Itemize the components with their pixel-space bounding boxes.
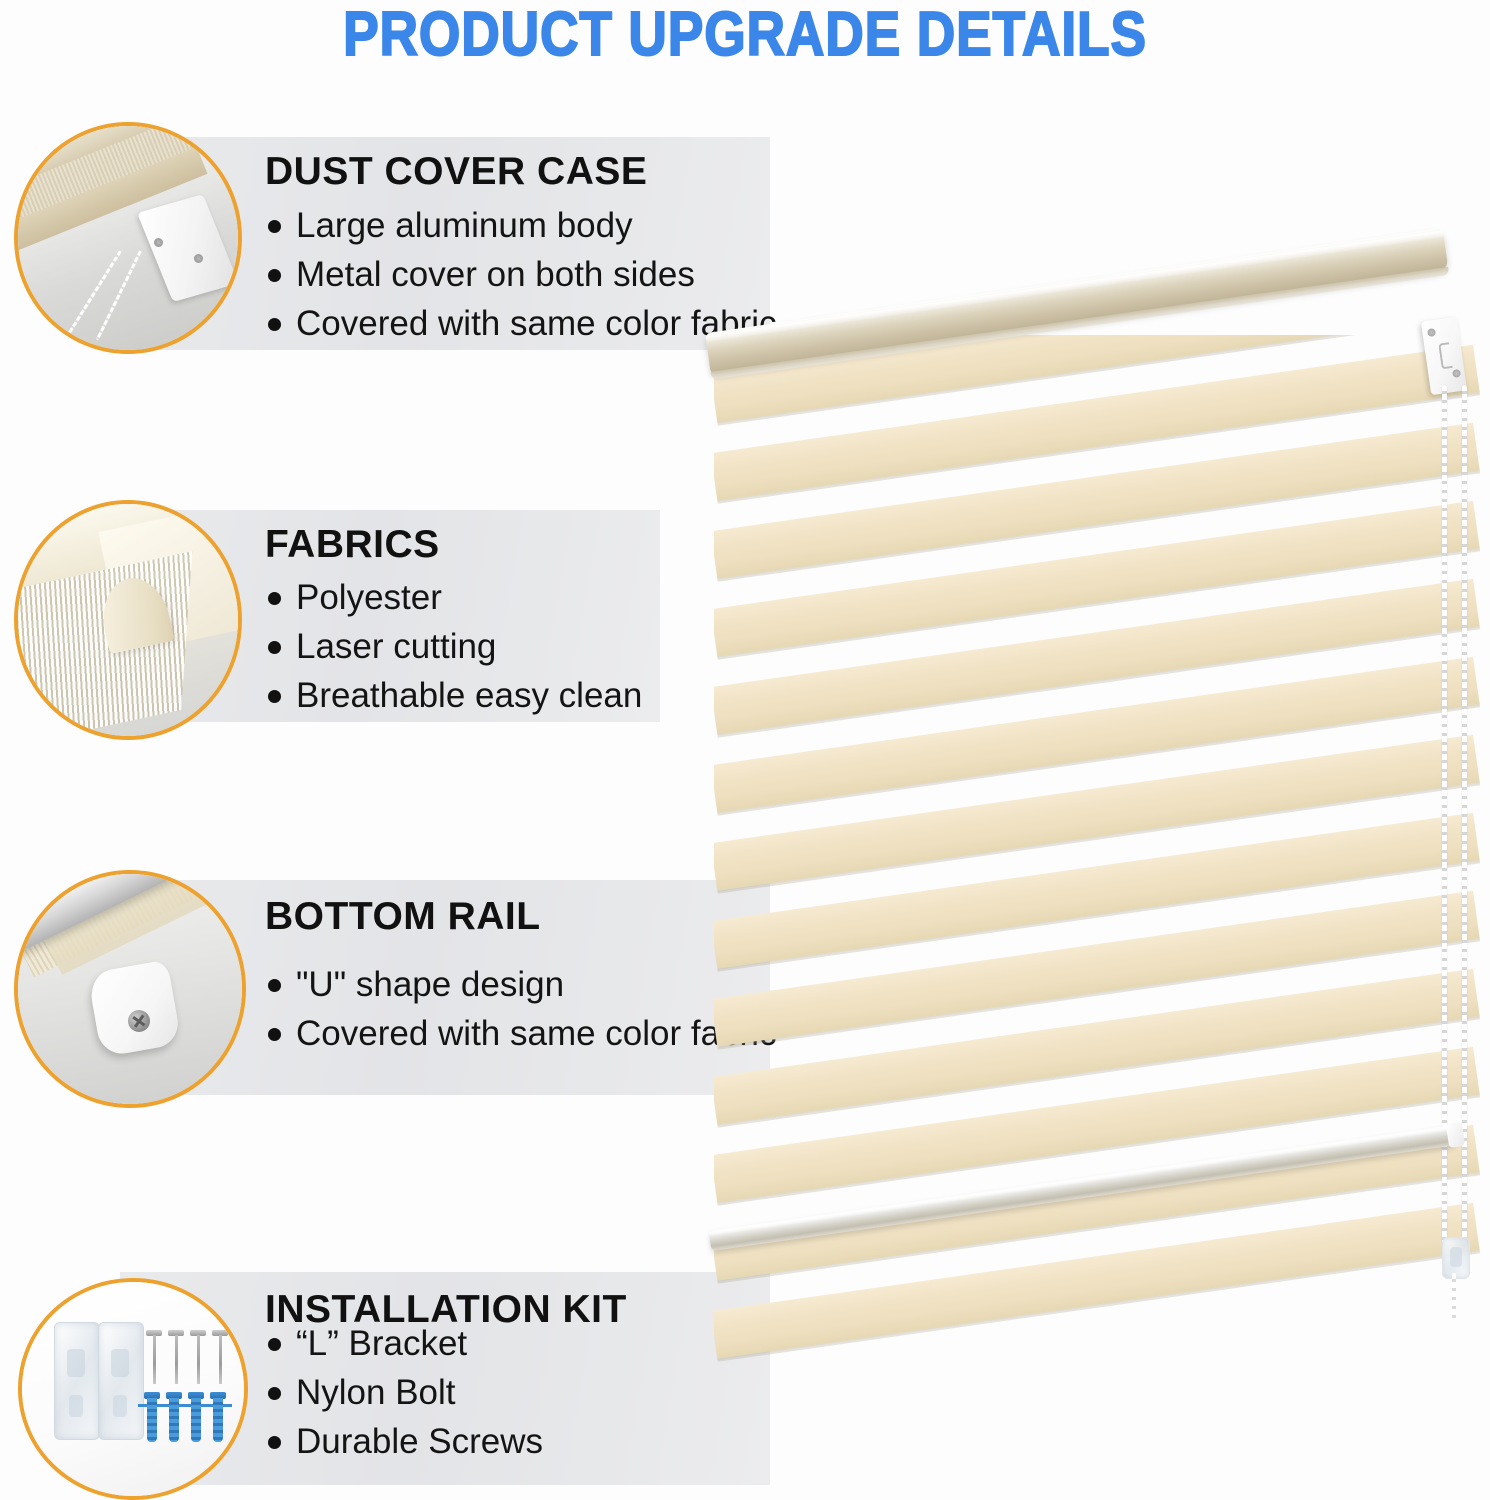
nylon-anchor-icon [210, 1392, 226, 1442]
bead-chain-tail[interactable] [1452, 1273, 1456, 1319]
bullet-dot-icon [268, 318, 281, 331]
feature-bullet-text: Large aluminum body [296, 206, 633, 246]
l-bracket-icon [98, 1322, 144, 1440]
feature-bullet-text: Durable Screws [296, 1422, 543, 1462]
blind-fabric [714, 335, 1484, 1365]
screw-icon [1452, 369, 1461, 378]
screw-icon [194, 1330, 202, 1384]
bead-chain-left[interactable] [1442, 385, 1447, 1243]
feature-bullet: Large aluminum body [268, 206, 633, 246]
bullet-dot-icon [268, 1436, 281, 1449]
chain-safety-connector[interactable] [1442, 1237, 1470, 1279]
feature-bullet: Laser cutting [268, 627, 496, 667]
feature-photo-dust-cover-case [14, 122, 242, 354]
bullet-dot-icon [268, 1387, 281, 1400]
feature-bullet-text: Metal cover on both sides [296, 255, 695, 295]
bullet-dot-icon [268, 690, 281, 703]
feature-bullet: Polyester [268, 578, 442, 618]
feature-bullet: “L” Bracket [268, 1324, 467, 1364]
bullet-dot-icon [268, 979, 281, 992]
feature-title-bottom-rail: BOTTOM RAIL [265, 895, 541, 939]
bullet-dot-icon [268, 269, 281, 282]
feature-title-dust-cover-case: DUST COVER CASE [265, 150, 647, 194]
feature-bullet: Nylon Bolt [268, 1373, 456, 1413]
bullet-dot-icon [268, 592, 281, 605]
feature-bullet-text: "U" shape design [296, 965, 564, 1005]
feature-title-fabrics: FABRICS [265, 523, 440, 567]
bullet-dot-icon [268, 1028, 281, 1041]
screw-icon [150, 1330, 158, 1384]
bullet-dot-icon [268, 1338, 281, 1351]
chain-sprocket-icon [1438, 342, 1453, 369]
screw-icon [216, 1330, 224, 1384]
screw-icon [1427, 328, 1436, 337]
nylon-anchor-icon [166, 1392, 182, 1442]
infographic-canvas: PRODUCT UPGRADE DETAILS DUST COVER CASE … [0, 0, 1490, 1500]
feature-bullet-text: Polyester [296, 578, 442, 618]
bullet-dot-icon [268, 220, 281, 233]
feature-bullet-text: Nylon Bolt [296, 1373, 456, 1413]
bullet-dot-icon [268, 641, 281, 654]
l-bracket-icon [54, 1322, 100, 1440]
feature-photo-installation-kit [18, 1278, 248, 1500]
product-zebra-roller-blind [700, 215, 1490, 1355]
feature-bullet-text: “L” Bracket [296, 1324, 467, 1364]
feature-bullet: Metal cover on both sides [268, 255, 695, 295]
nylon-anchor-icon [188, 1392, 204, 1442]
feature-bullet-text: Breathable easy clean [296, 676, 642, 716]
bead-chain-right[interactable] [1462, 385, 1467, 1243]
feature-bullet: Durable Screws [268, 1422, 543, 1462]
nylon-anchor-icon [144, 1392, 160, 1442]
feature-bullet-text: Laser cutting [296, 627, 496, 667]
screw-icon [172, 1330, 180, 1384]
page-title: PRODUCT UPGRADE DETAILS [104, 2, 1385, 68]
feature-photo-bottom-rail [14, 870, 246, 1108]
feature-bullet: "U" shape design [268, 965, 564, 1005]
feature-photo-fabrics [14, 500, 242, 740]
feature-bullet: Breathable easy clean [268, 676, 642, 716]
